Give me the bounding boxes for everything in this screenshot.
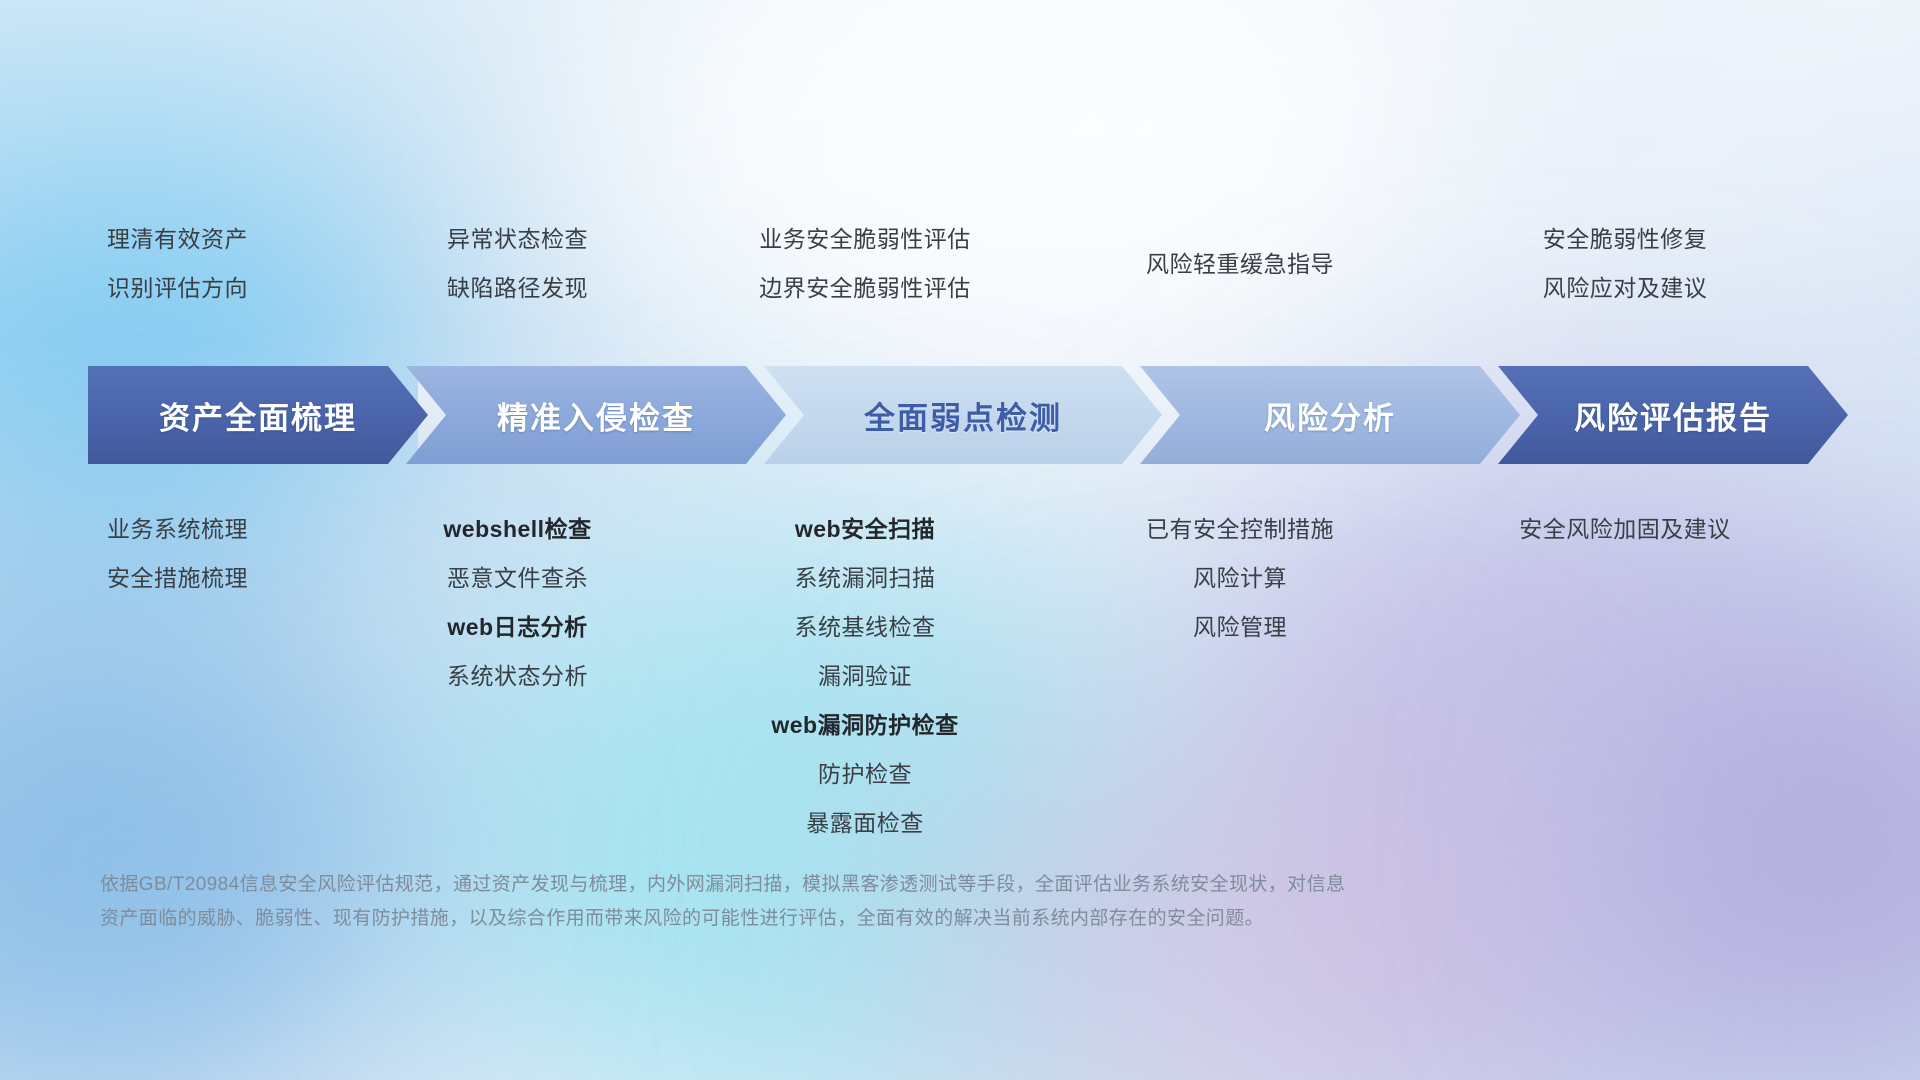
lower-item: web漏洞防护检查 bbox=[680, 701, 1050, 750]
lower-item: web安全扫描 bbox=[680, 505, 1050, 554]
lower-item: 风险管理 bbox=[1050, 603, 1430, 652]
upper-text-row: 理清有效资产 识别评估方向 异常状态检查 缺陷路径发现 业务安全脆弱性评估 边界… bbox=[0, 215, 1920, 313]
stage-chevron-2[interactable]: 精准入侵检查 bbox=[406, 366, 786, 464]
footer-line-1: 依据GB/T20984信息安全风险评估规范，通过资产发现与梳理，内外网漏洞扫描，… bbox=[100, 868, 1640, 902]
stage-chevron-1[interactable]: 资产全面梳理 bbox=[88, 366, 428, 464]
lower-item: 风险计算 bbox=[1050, 554, 1430, 603]
footer-line-2: 资产面临的威胁、脆弱性、现有防护措施，以及综合作用而带来风险的可能性进行评估，全… bbox=[100, 902, 1640, 936]
lower-item: 业务系统梳理 bbox=[0, 505, 355, 554]
upper-col-4: 风险轻重缓急指导 bbox=[1050, 215, 1430, 313]
upper-item: 缺陷路径发现 bbox=[355, 264, 680, 313]
upper-item: 风险轻重缓急指导 bbox=[1050, 240, 1430, 289]
upper-item: 边界安全脆弱性评估 bbox=[680, 264, 1050, 313]
upper-col-2: 异常状态检查 缺陷路径发现 bbox=[355, 215, 680, 313]
lower-item: web日志分析 bbox=[355, 603, 680, 652]
lower-item: 系统状态分析 bbox=[355, 652, 680, 701]
stage-chevron-4[interactable]: 风险分析 bbox=[1140, 366, 1520, 464]
upper-col-1: 理清有效资产 识别评估方向 bbox=[0, 215, 355, 313]
lower-item: 防护检查 bbox=[680, 750, 1050, 799]
lower-item: 已有安全控制措施 bbox=[1050, 505, 1430, 554]
stage-chevron-3[interactable]: 全面弱点检测 bbox=[764, 366, 1162, 464]
lower-col-5: 安全风险加固及建议 bbox=[1430, 505, 1820, 848]
footer-description: 依据GB/T20984信息安全风险评估规范，通过资产发现与梳理，内外网漏洞扫描，… bbox=[100, 868, 1640, 936]
lower-item: 系统基线检查 bbox=[680, 603, 1050, 652]
upper-item: 理清有效资产 bbox=[0, 215, 355, 264]
lower-item: 恶意文件查杀 bbox=[355, 554, 680, 603]
upper-item: 业务安全脆弱性评估 bbox=[680, 215, 1050, 264]
stage-label-1: 资产全面梳理 bbox=[159, 393, 357, 438]
upper-item: 安全脆弱性修复 bbox=[1430, 215, 1820, 264]
lower-col-2: webshell检查 恶意文件查杀 web日志分析 系统状态分析 bbox=[355, 505, 680, 848]
upper-item: 识别评估方向 bbox=[0, 264, 355, 313]
process-flow-diagram: 理清有效资产 识别评估方向 异常状态检查 缺陷路径发现 业务安全脆弱性评估 边界… bbox=[0, 0, 1920, 1080]
lower-item: 安全风险加固及建议 bbox=[1430, 505, 1820, 554]
upper-item: 异常状态检查 bbox=[355, 215, 680, 264]
stage-label-5: 风险评估报告 bbox=[1574, 393, 1772, 438]
lower-col-1: 业务系统梳理 安全措施梳理 bbox=[0, 505, 355, 848]
lower-item: 系统漏洞扫描 bbox=[680, 554, 1050, 603]
lower-item: 安全措施梳理 bbox=[0, 554, 355, 603]
lower-col-4: 已有安全控制措施 风险计算 风险管理 bbox=[1050, 505, 1430, 848]
lower-text-row: 业务系统梳理 安全措施梳理 webshell检查 恶意文件查杀 web日志分析 … bbox=[0, 505, 1920, 848]
upper-col-5: 安全脆弱性修复 风险应对及建议 bbox=[1430, 215, 1820, 313]
upper-col-3: 业务安全脆弱性评估 边界安全脆弱性评估 bbox=[680, 215, 1050, 313]
stage-label-4: 风险分析 bbox=[1264, 393, 1396, 438]
stage-label-2: 精准入侵检查 bbox=[497, 393, 695, 438]
stage-chevron-5[interactable]: 风险评估报告 bbox=[1498, 366, 1848, 464]
stage-label-3: 全面弱点检测 bbox=[864, 393, 1062, 438]
lower-item: 漏洞验证 bbox=[680, 652, 1050, 701]
lower-item: webshell检查 bbox=[355, 505, 680, 554]
lower-col-3: web安全扫描 系统漏洞扫描 系统基线检查 漏洞验证 web漏洞防护检查 防护检… bbox=[680, 505, 1050, 848]
stage-chevron-band: 资产全面梳理 精准入侵检查 全面弱点检测 风险分析 风险评估报告 bbox=[88, 366, 1848, 464]
lower-item: 暴露面检查 bbox=[680, 799, 1050, 848]
upper-item: 风险应对及建议 bbox=[1430, 264, 1820, 313]
